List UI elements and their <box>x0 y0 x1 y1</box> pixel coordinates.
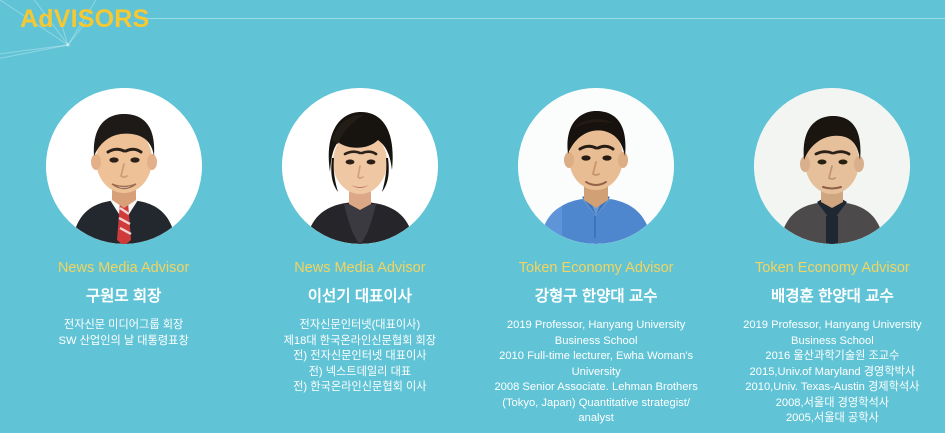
advisor-role: Token Economy Advisor <box>519 258 674 278</box>
bio-line: Business School <box>489 334 704 350</box>
advisor-bio: 전자신문 미디어그룹 회장 SW 산업인의 날 대통령표창 <box>16 318 231 349</box>
avatar <box>754 88 910 244</box>
bio-line: 전) 한국온라인신문협회 이사 <box>252 380 467 396</box>
advisor-card[interactable]: News Media Advisor 이선기 대표이사 전자신문인터넷(대표이사… <box>247 88 472 427</box>
advisor-name: 이선기 대표이사 <box>308 286 412 308</box>
bio-line: 2019 Professor, Hanyang University <box>489 318 704 334</box>
advisor-role: Token Economy Advisor <box>755 258 910 278</box>
bio-line: 전) 넥스트데일리 대표 <box>252 365 467 381</box>
header-rule <box>146 18 945 19</box>
advisor-card[interactable]: News Media Advisor 구원모 회장 전자신문 미디어그룹 회장 … <box>11 88 236 427</box>
bio-line: 2015,Univ.of Maryland 경영학박사 <box>725 365 940 381</box>
advisor-role: News Media Advisor <box>58 258 189 278</box>
woman-short-hair-dark-blazer-portrait <box>282 88 438 244</box>
bio-line: 2008 Senior Associate. Lehman Brothers <box>489 380 704 396</box>
bio-line: analyst <box>489 411 704 427</box>
bio-line: 2010,Univ. Texas-Austin 경제학석사 <box>725 380 940 396</box>
bio-line: 전자신문 미디어그룹 회장 <box>16 318 231 334</box>
advisor-role: News Media Advisor <box>294 258 425 278</box>
avatar <box>46 88 202 244</box>
bio-line: 전) 전자신문인터넷 대표이사 <box>252 349 467 365</box>
bio-line: SW 산업인의 날 대통령표창 <box>16 334 231 350</box>
avatar <box>282 88 438 244</box>
advisor-name: 구원모 회장 <box>86 286 162 308</box>
bio-line: (Tokyo, Japan) Quantitative strategist/ <box>489 396 704 412</box>
page-title: AdVISORS <box>20 3 149 35</box>
bio-line: 2008,서울대 경영학석사 <box>725 396 940 412</box>
bio-line: Business School <box>725 334 940 350</box>
man-blue-polo-shirt-portrait <box>518 88 674 244</box>
advisor-bio: 2019 Professor, Hanyang University Busin… <box>725 318 940 427</box>
bio-line: 제18대 한국온라인신문협회 회장 <box>252 334 467 350</box>
avatar <box>518 88 674 244</box>
bio-line: 전자신문인터넷(대표이사) <box>252 318 467 334</box>
advisor-name: 강형구 한양대 교수 <box>535 286 658 308</box>
bio-line: 2010 Full-time lecturer, Ewha Woman's <box>489 349 704 365</box>
advisor-bio: 전자신문인터넷(대표이사) 제18대 한국온라인신문협회 회장 전) 전자신문인… <box>252 318 467 396</box>
bio-line: University <box>489 365 704 381</box>
advisor-card[interactable]: Token Economy Advisor 배경훈 한양대 교수 2019 Pr… <box>720 88 945 427</box>
man-dark-suit-red-tie-portrait <box>46 88 202 244</box>
advisor-bio: 2019 Professor, Hanyang University Busin… <box>489 318 704 427</box>
advisors-list: News Media Advisor 구원모 회장 전자신문 미디어그룹 회장 … <box>0 88 945 427</box>
advisor-card[interactable]: Token Economy Advisor 강형구 한양대 교수 2019 Pr… <box>484 88 709 427</box>
advisor-name: 배경훈 한양대 교수 <box>771 286 894 308</box>
bio-line: 2019 Professor, Hanyang University <box>725 318 940 334</box>
bio-line: 2016 울산과학기술원 조교수 <box>725 349 940 365</box>
man-dark-collared-shirt-portrait <box>754 88 910 244</box>
bio-line: 2005,서울대 공학사 <box>725 411 940 427</box>
